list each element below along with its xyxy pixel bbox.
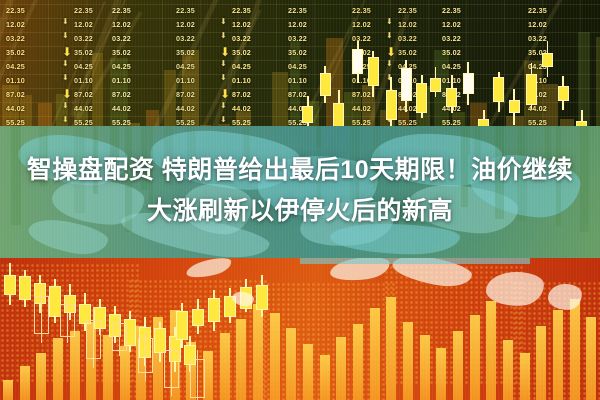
down-arrow-icon: ⬇	[62, 116, 69, 124]
candle-body	[208, 298, 220, 322]
ticker-value: 04.25	[74, 62, 93, 71]
candle-body	[86, 320, 101, 359]
bar	[503, 340, 513, 400]
ticker-value: 03.22	[398, 34, 417, 43]
bar	[403, 322, 413, 400]
bar	[70, 331, 80, 400]
ticker-value: 12.02	[232, 20, 251, 29]
ticker-value: 12.02	[352, 20, 371, 29]
candle-body	[112, 323, 127, 350]
ticker-value: 12.02	[528, 20, 547, 29]
bar	[236, 319, 246, 400]
ticker-value: 01.10	[288, 76, 307, 85]
ticker-value: 12.02	[176, 20, 195, 29]
candle-body	[446, 88, 457, 107]
ticker-value: 03.22	[528, 34, 547, 43]
candle-body	[4, 275, 16, 294]
candle-body	[320, 73, 331, 96]
candle-body	[493, 77, 504, 102]
ticker-value: 12.02	[74, 20, 93, 29]
ticker-value: 12.02	[288, 20, 307, 29]
ticker-value: 35.02	[112, 48, 131, 57]
candle-body	[558, 86, 569, 101]
down-arrow-icon: ⬇	[220, 46, 230, 58]
ticker-value: 22.35	[232, 6, 251, 15]
map-fragment	[185, 258, 233, 281]
candle-body	[190, 359, 205, 398]
bar	[20, 366, 30, 400]
ticker-value: 35.02	[176, 48, 195, 57]
bar	[520, 353, 530, 400]
down-arrow-icon: ⬇	[62, 74, 69, 82]
ticker-value: 22.35	[6, 6, 25, 15]
bar	[570, 299, 580, 400]
bar	[420, 335, 430, 400]
down-arrow-icon: ⬇	[62, 60, 69, 68]
ticker-value: 87.02	[352, 90, 371, 99]
ticker-value: 35.02	[442, 48, 461, 57]
candle-body	[34, 296, 49, 334]
ticker-value: 04.25	[176, 62, 195, 71]
candle-body	[138, 338, 153, 373]
bar	[120, 346, 130, 400]
teal-sliver	[300, 258, 530, 264]
bar	[336, 337, 346, 400]
bar	[553, 310, 563, 400]
bar	[470, 315, 480, 400]
ticker-value: 44.02	[398, 104, 417, 113]
candle-body	[542, 53, 553, 67]
ticker-value: 87.02	[6, 90, 25, 99]
ticker-value: 01.10	[6, 76, 25, 85]
ticker-value: 22.35	[288, 6, 307, 15]
bar	[320, 355, 330, 400]
ticker-value: 44.02	[176, 104, 195, 113]
down-arrow-icon: ⬇	[220, 60, 227, 68]
ticker-value: 12.02	[112, 20, 131, 29]
bar	[253, 304, 263, 400]
ticker-value: 22.35	[74, 6, 93, 15]
bar	[586, 317, 596, 400]
candle-body	[526, 74, 537, 105]
ticker-value: 87.02	[176, 90, 195, 99]
bar	[36, 353, 46, 400]
bar	[286, 328, 296, 400]
ticker-value: 01.10	[74, 76, 93, 85]
down-arrow-icon: ⬇	[220, 102, 227, 110]
ticker-value: 03.22	[6, 34, 25, 43]
ticker-value: 87.02	[112, 90, 131, 99]
bar	[453, 331, 463, 400]
down-arrow-icon: ⬇	[386, 46, 396, 58]
down-arrow-icon: ⬇	[386, 32, 393, 40]
ticker-value: 44.02	[112, 104, 131, 113]
ticker-value: 04.25	[442, 62, 461, 71]
ticker-value: 22.35	[352, 6, 371, 15]
ticker-value: 87.02	[74, 90, 93, 99]
down-arrow-icon: ⬇	[220, 88, 230, 100]
ticker-value: 44.02	[232, 104, 251, 113]
grid-line	[0, 46, 600, 47]
candle-body	[192, 309, 204, 326]
grid-line	[0, 4, 600, 5]
bar	[53, 338, 63, 400]
down-arrow-icon: ⬇	[220, 32, 227, 40]
candle-body	[463, 73, 474, 94]
bar	[386, 297, 396, 400]
down-arrow-icon: ⬇	[62, 46, 72, 58]
bar	[353, 324, 363, 400]
headline-line-1: 智操盘配资 特朗普给出最后10天期限！油价继续	[0, 150, 600, 191]
headline-text: 智操盘配资 特朗普给出最后10天期限！油价继续 大涨刷新以伊停火后的新高	[0, 150, 600, 232]
down-arrow-icon: ⬇	[386, 18, 393, 26]
ticker-value: 04.25	[112, 62, 131, 71]
ticker-value: 12.02	[398, 20, 417, 29]
ticker-value: 22.35	[398, 6, 417, 15]
candle-body	[176, 311, 188, 340]
ticker-value: 35.02	[74, 48, 93, 57]
ticker-value: 35.02	[288, 48, 307, 57]
bar	[436, 348, 446, 400]
bar	[370, 308, 380, 400]
headline-line-2: 大涨刷新以伊停火后的新高	[0, 191, 600, 232]
ticker-value: 22.35	[112, 6, 131, 15]
down-arrow-icon: ⬇	[62, 32, 69, 40]
ticker-value: 03.22	[288, 34, 307, 43]
down-arrow-icon: ⬇	[386, 60, 393, 68]
ticker-value: 04.25	[232, 62, 251, 71]
ticker-value: 03.22	[232, 34, 251, 43]
ticker-value: 12.02	[6, 20, 25, 29]
ticker-value: 04.25	[288, 62, 307, 71]
ticker-value: 03.22	[112, 34, 131, 43]
ticker-value: 03.22	[442, 34, 461, 43]
ticker-value: 01.10	[112, 76, 131, 85]
ticker-value: 03.22	[352, 34, 371, 43]
ticker-value: 22.35	[176, 6, 195, 15]
candle-body	[416, 83, 427, 113]
ticker-value: 35.02	[232, 48, 251, 57]
bar	[220, 333, 230, 400]
candle-body	[386, 90, 397, 120]
candle-body	[256, 285, 268, 309]
bar-chart-region	[0, 258, 600, 400]
ticker-value: 12.02	[442, 20, 461, 29]
bar	[303, 344, 313, 400]
candle-body	[401, 68, 412, 101]
bar	[486, 301, 496, 400]
ticker-value: 04.25	[6, 62, 25, 71]
ticker-value: 87.02	[288, 90, 307, 99]
candle-body	[164, 350, 179, 388]
down-arrow-icon: ⬇	[62, 102, 69, 110]
candle-body	[60, 304, 75, 336]
candle-body	[302, 106, 313, 123]
ticker-value: 03.22	[74, 34, 93, 43]
ticker-value: 35.02	[6, 48, 25, 57]
bar	[3, 380, 13, 400]
candle-body	[430, 78, 441, 92]
ticker-value: 87.02	[232, 90, 251, 99]
ticker-value: 44.02	[74, 104, 93, 113]
ticker-value: 44.02	[6, 104, 25, 113]
down-arrow-icon: ⬇	[220, 74, 227, 82]
ticker-value: 01.10	[232, 76, 251, 85]
ticker-value: 35.02	[398, 48, 417, 57]
bar	[270, 313, 280, 400]
ticker-value: 22.35	[442, 6, 461, 15]
candle-body	[19, 276, 31, 300]
bar	[536, 326, 546, 400]
news-banner-image: 22.3512.0203.2235.0204.2501.1087.0244.02…	[0, 0, 600, 400]
ticker-value: 01.10	[176, 76, 195, 85]
grid-line	[0, 18, 600, 19]
down-arrow-icon: ⬇	[62, 18, 69, 26]
down-arrow-icon: ⬇	[62, 88, 72, 100]
ticker-value: 03.22	[176, 34, 195, 43]
down-arrow-icon: ⬇	[220, 116, 227, 124]
candle-body	[352, 49, 363, 74]
candle-body	[509, 100, 520, 113]
candle-body	[368, 57, 379, 85]
ticker-value: 22.35	[528, 6, 547, 15]
down-arrow-icon: ⬇	[220, 18, 227, 26]
ticker-value: 44.02	[352, 104, 371, 113]
